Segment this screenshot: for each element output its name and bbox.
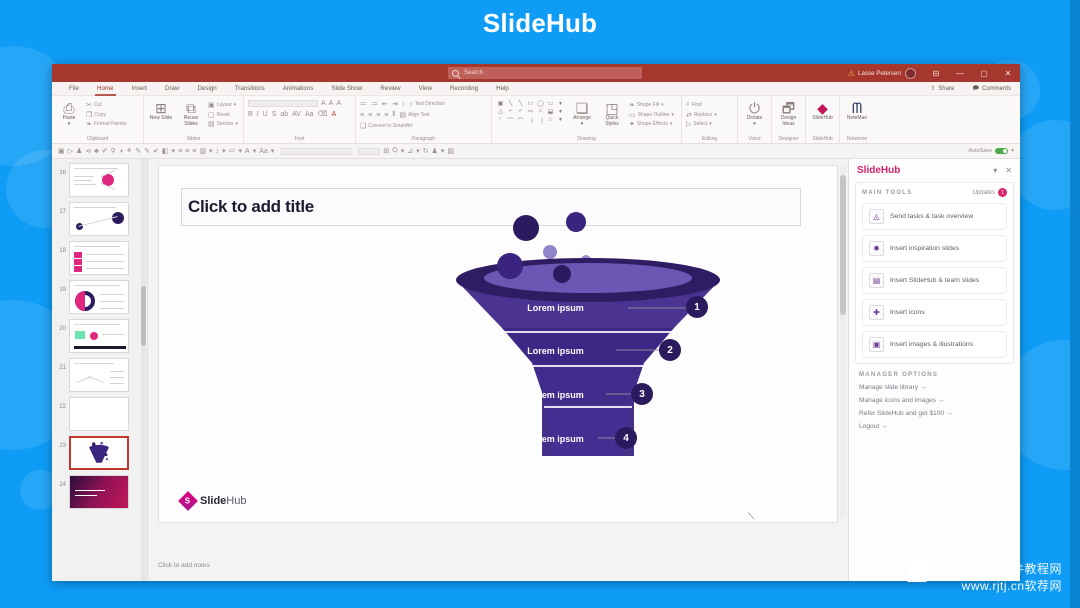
funnel-number-badge-2[interactable]: 2 [659,339,681,361]
shape-icon[interactable]: 〈 [526,116,535,125]
right-edge-band [1070,0,1080,608]
shape-icon[interactable]: ⌂ [536,108,545,115]
quick-styles-button[interactable]: ◳ Quick Styles [599,100,625,128]
shape-fill-label: Shape Fill [637,102,659,108]
qbar-icon[interactable]: ≡ [192,148,196,155]
paintbrush-icon: ❧ [86,120,92,128]
find-icon: ⌕ [686,101,690,109]
avatar[interactable] [905,68,916,79]
comments-button[interactable]: 🗩 Comments [963,84,1020,94]
funnel-number-badge-3[interactable]: 3 [631,383,653,405]
bullets-icon[interactable]: ≔ [360,100,367,108]
chevron-down-icon[interactable]: ▾ [416,147,420,155]
font-color-icon[interactable]: A [331,111,336,118]
shape-icon[interactable]: ⬓ [546,108,555,115]
thumbnail-number: 19 [54,280,66,293]
qbar-icon[interactable]: ≡ [178,148,182,155]
search-icon [452,70,459,77]
copy-label: Copy [94,112,106,118]
shape-fill-button[interactable]: ❧ Shape Fill ▾ [629,101,674,109]
thumbnail-21[interactable] [69,358,129,392]
tool-label: Send tasks & task overview [890,213,973,220]
bubble-dark [513,215,539,241]
shrink-font-icon[interactable]: A [329,100,334,107]
chevron-down-icon[interactable]: ▾ [253,147,257,155]
qbar-icon[interactable]: ⊲ [85,147,91,155]
bubble-light [543,245,557,259]
thumbnail-item[interactable]: 18 [54,241,145,275]
logo-text-bold: Slide [200,495,226,507]
qbar-icon[interactable]: ↻ [423,147,429,155]
align-text-icon: ▤ [399,111,406,119]
shapes-gallery[interactable]: ▣ ╲ ╲ ▭ ◯ ▭ ▾ △ ⌐ ⌐ ⇨ ⌂ ⬓ ▾ ◜ ⌒ ⌒ [496,100,565,125]
tab-view[interactable]: View [410,82,441,96]
shape-effects-icon: ✦ [629,120,635,128]
section-icon: ▤ [208,120,215,128]
panel-header: SlideHub ▾ ✕ [855,163,1014,182]
quick-format-bar: ▣ ▷ ♟ ⊲ ♣ ✐ ⚲ ◑ ⚘ ✎ ✎ ✔ ◧ ▾ ≡ ≡ ≡ ▥ ▾ ↕ … [52,144,1020,159]
thumbnail-18[interactable] [69,241,129,275]
strikethrough-button[interactable]: ab [280,111,288,118]
text-direction-icon: ↕ [409,101,413,108]
funnel-segment-label-3: Lorem ipsum [488,390,623,400]
tool-insert-team-slides[interactable]: ▤ Insert SlideHub & team slides [862,267,1007,294]
insert-icons-icon: ✚ [869,305,884,320]
shape-effects-button[interactable]: ✦ Shape Effects ▾ [629,120,674,128]
thumbnail-16[interactable] [69,163,129,197]
reuse-slides-label: Reuse Slides [184,115,198,127]
qbar-icon[interactable]: ✔ [153,147,159,155]
thumbnail-20[interactable] [69,319,129,353]
dictate-chevron-down-icon[interactable]: ▾ [742,122,767,128]
qbar-icon[interactable]: ≡ [185,148,189,155]
mouse-cursor-icon: ⟍ [748,511,754,522]
send-tasks-icon: ◬ [869,209,884,224]
logo-text: SlideHub [200,495,246,507]
slidehub-button[interactable]: ◆ SlideHub [810,100,835,122]
paste-button[interactable]: ⎙ Paste ▾ [56,100,82,128]
qbar-icon[interactable]: ⚘ [126,147,132,155]
slidehub-label: SlideHub [812,115,832,121]
shape-icon[interactable]: 〔 [536,116,545,125]
share-button[interactable]: ⇧ Share [921,85,963,92]
shadow-button[interactable]: S [272,111,277,118]
group-label-clipboard: Clipboard [52,136,143,142]
ribbon-tabs: File Home Insert Draw Design Transitions… [52,82,1020,96]
minimize-icon[interactable]: — [948,69,972,78]
thumbnail-number: 23 [54,436,66,449]
shape-fill-icon: ❧ [629,101,635,109]
main-tools-title: MAIN TOOLS [862,190,913,196]
microphone-icon: ⏻ [742,100,767,116]
thumbnail-number: 20 [54,319,66,332]
find-label: Find [692,102,702,108]
qbar-icon[interactable]: ⛭ [392,147,398,155]
smartart-icon: ❏ [360,122,366,130]
thumbnail-item[interactable]: 16 [54,163,145,197]
qbar-icon[interactable]: ♣ [94,148,99,155]
paste-chevron-down-icon[interactable]: ▾ [56,122,82,128]
chevron-down-icon[interactable]: ▾ [222,147,226,155]
shape-icon[interactable]: ⌒ [516,116,525,125]
bubble-dark [566,212,586,232]
shape-icon[interactable]: △ [496,108,505,115]
logo-text-light: Hub [226,495,246,507]
thumbnail-item[interactable]: 20 [54,319,145,353]
bubble-dark [553,265,571,283]
ribbon-group-drawing: ▣ ╲ ╲ ▭ ◯ ▭ ▾ △ ⌐ ⌐ ⇨ ⌂ ⬓ ▾ ◜ ⌒ ⌒ [492,96,682,143]
bold-button[interactable]: B [248,111,253,118]
thumbnail-item[interactable]: 24 [54,475,145,509]
panel-title: SlideHub [857,165,900,176]
numbering-icon[interactable]: ≕ [371,100,378,108]
shape-icon[interactable]: ⌐ [516,108,525,115]
thumbnail-item[interactable]: 22 [54,397,145,431]
text-direction-button[interactable]: ↕ Text Direction [409,101,445,108]
section-label: Section [217,121,234,127]
noteman-icon: ᗰ [844,100,870,116]
qbar-icon[interactable]: ⊿ [407,147,413,155]
change-case-icon[interactable]: Aa [305,111,314,118]
shape-icon[interactable]: ▣ [496,100,505,107]
group-label-font: Font [244,136,355,142]
search-placeholder: Search [464,70,483,76]
layout-icon: ▣ [208,101,215,109]
search-input[interactable]: Search [448,67,642,79]
ribbon-group-slidehub: ◆ SlideHub SlideHub [806,96,840,143]
canvas-scrollbar[interactable] [840,165,846,517]
slide-surface[interactable]: Click to add title [158,165,838,523]
dictate-button[interactable]: ⏻ Dictate ▾ [742,100,767,128]
group-label-slidehub: SlideHub [806,136,839,142]
section-button[interactable]: ▤ Section ▾ [208,120,238,128]
warning-icon: ⚠ [848,69,855,78]
clear-formatting-icon[interactable]: A [336,100,341,107]
reuse-slides-button[interactable]: ⧉ Reuse Slides [178,100,204,128]
arrange-button[interactable]: ❏ Arrange ▾ [569,100,595,128]
thumbnail-17[interactable] [69,202,129,236]
arrange-icon: ❏ [569,100,595,116]
shape-outline-chevron-down-icon[interactable]: ▾ [671,112,674,118]
noteman-label: NoteMan [847,115,867,121]
new-slide-icon: ⊞ [148,100,174,116]
thumbnail-number: 17 [54,202,66,215]
reset-button[interactable]: ▢ Reset [208,111,238,119]
replace-button[interactable]: ⇄ Replace ▾ [686,111,717,119]
reset-label: Reset [217,112,230,118]
font-family-select[interactable] [248,100,318,107]
noteman-button[interactable]: ᗰ NoteMan [844,100,870,122]
shape-icon[interactable]: ⌐ [506,108,515,115]
shapes-chevron-down-icon[interactable]: ▾ [556,100,565,107]
qbar-icon[interactable]: Aa [259,148,268,155]
manager-options-title: MANAGER OPTIONS [859,372,1014,378]
watermark-logo [906,560,928,582]
ribbon-group-slides: ⊞ New Slide ⧉ Reuse Slides ▣ Layout ▾ ▢ … [144,96,244,143]
shape-icon[interactable]: ⇨ [526,108,535,115]
work-area: 16 17 [52,159,1020,581]
qbar-icon[interactable]: ✐ [102,147,108,155]
select-icon: ▷ [686,120,691,128]
shape-icon[interactable]: ☆ [546,116,555,125]
cut-button[interactable]: ✂ Cut [86,101,127,109]
comments-label: Comments [982,86,1011,92]
decrease-indent-icon[interactable]: ⇤ [382,100,388,108]
shape-fill-chevron-down-icon[interactable]: ▾ [661,102,664,108]
qbar-size-select[interactable] [358,148,380,155]
share-label: Share [938,86,954,92]
slide-thumbnail-panel[interactable]: 16 17 [52,159,148,581]
logo-letter: S [185,497,190,506]
tool-insert-icons[interactable]: ✚ Insert icons [862,299,1007,326]
ribbon-group-paragraph: ≔ ≕ ⇤ ⇥ ↕ ↕ Text Direction ≡ ≡ ≡ ≡ ⦀ [356,96,492,143]
shape-icon[interactable]: ▭ [546,100,555,107]
slide-title-text: Click to add title [188,197,314,217]
layout-chevron-down-icon[interactable]: ▾ [234,102,237,108]
shape-icon[interactable]: ◯ [536,100,545,107]
underline-button[interactable]: U [263,111,268,118]
bubble-dark [497,253,523,279]
ribbon-group-font: A A A B I U S ab AV Aa ⌫ A Font [244,96,356,143]
qbar-icon[interactable]: ▥ [199,147,206,155]
watermark: 软件教程网 www.rjtj.cn软荐网 [962,560,1062,594]
ribbon-group-clipboard: ⎙ Paste ▾ ✂ Cut ❐ Copy ❧ Format Pai [52,96,144,143]
reset-icon: ▢ [208,111,215,119]
qbar-icon[interactable]: ▨ [447,147,454,155]
group-label-slides: Slides [144,136,243,142]
tab-review[interactable]: Review [371,82,409,96]
convert-smartart-label: Convert to SmartArt [368,123,412,129]
funnel-segment-label-4: Lorem ipsum [488,434,623,444]
tool-insert-inspiration-slides[interactable]: ✹ Insert inspiration slides [862,235,1007,262]
manage-icons-images-link[interactable]: Manage icons and images → [859,397,1014,404]
chevron-down-icon[interactable]: ▾ [209,147,213,155]
funnel-segment-label-1: Lorem ipsum [488,303,623,313]
quick-styles-label: Quick Styles [605,115,619,127]
tab-file[interactable]: File [60,82,88,96]
scrollbar-knob[interactable] [141,286,146,346]
qbar-icon[interactable]: ▷ [68,147,73,155]
character-spacing-icon[interactable]: AV [292,111,301,118]
columns-icon[interactable]: ⦀ [392,111,395,119]
ribbon-group-designer: 🗗 Design Ideas Designer [772,96,806,143]
justify-icon[interactable]: ≡ [384,112,388,119]
tool-label: Insert icons [890,309,925,316]
thumbnail-item[interactable]: 17 [54,202,145,236]
tab-design[interactable]: Design [188,82,225,96]
shape-outline-icon: ▭ [629,111,636,119]
text-highlight-icon[interactable]: ⌫ [318,110,328,118]
qbar-icon[interactable]: ✎ [144,147,150,155]
thumbnail-number: 16 [54,163,66,176]
select-label: Select [693,121,707,127]
chevron-down-icon[interactable]: ▾ [441,147,445,155]
qbar-icon[interactable]: ◧ [162,147,169,155]
slidehub-panel: SlideHub ▾ ✕ MAIN TOOLS Updates 1 ◬ Send… [848,159,1020,581]
autosave-label: AutoSave [968,148,992,154]
qbar-icon[interactable]: ♟ [432,147,438,155]
refer-slidehub-link[interactable]: Refer SlideHub and get $100 → [859,410,1014,417]
scissors-icon: ✂ [86,101,92,109]
notes-placeholder[interactable]: Click to add notes [158,557,838,579]
updates-badge: 1 [998,188,1007,197]
align-right-icon[interactable]: ≡ [376,112,380,119]
thumbnail-number: 21 [54,358,66,371]
title-bar: SlideHub Follow-up presentation Search ⚠… [52,64,1020,82]
align-left-icon[interactable]: ≡ [360,112,364,119]
tab-animations[interactable]: Animations [274,82,323,96]
thumbnail-item[interactable]: 19 [54,280,145,314]
ribbon-group-notetone: ᗰ NoteMan Notetone [840,96,874,143]
tab-transitions[interactable]: Transitions [226,82,274,96]
shape-icon[interactable]: ╲ [516,100,525,107]
page-title: SlideHub [0,8,1080,39]
design-ideas-icon: 🗗 [776,100,801,116]
qbar-icon[interactable]: ♟ [76,147,82,155]
qbar-font-select[interactable] [281,148,351,155]
tool-send-tasks[interactable]: ◬ Send tasks & task overview [862,203,1007,230]
qbar-icon[interactable]: ⚲ [111,147,116,155]
close-icon[interactable]: ✕ [996,69,1020,78]
thumbnail-item[interactable]: 23 [54,436,145,470]
find-button[interactable]: ⌕ Find [686,101,717,109]
panel-collapse-icon[interactable]: ▾ [993,166,997,175]
tool-label: Insert SlideHub & team slides [890,277,979,284]
replace-chevron-down-icon[interactable]: ▾ [714,112,717,118]
replace-icon: ⇄ [686,111,692,119]
shape-outline-button[interactable]: ▭ Shape Outline ▾ [629,111,674,119]
select-button[interactable]: ▷ Select ▾ [686,120,717,128]
thumbnail-number: 18 [54,241,66,254]
main-tools-header: MAIN TOOLS Updates 1 [862,188,1007,197]
replace-label: Replace [694,112,712,118]
cut-label: Cut [94,102,102,108]
titlebar-right-controls: ⚠ Lasse Petersen ⊟ — ▢ ✕ [848,64,1020,82]
thumbnail-number: 22 [54,397,66,410]
group-label-notetone: Notetone [840,136,874,142]
thumbnail-item[interactable]: 21 [54,358,145,392]
chevron-down-icon[interactable]: ▾ [1011,148,1014,154]
manage-slide-library-link[interactable]: Manage slide library → [859,384,1014,391]
align-text-button[interactable]: ▤ Align Text [399,111,429,119]
align-center-icon[interactable]: ≡ [368,112,372,119]
shape-icon[interactable]: ◜ [496,116,505,125]
powerpoint-window: SlideHub Follow-up presentation Search ⚠… [52,64,1020,581]
shape-icon[interactable]: ╲ [506,100,515,107]
funnel-segment-label-2: Lorem ipsum [488,346,623,356]
funnel-diagram[interactable]: Lorem ipsum Lorem ipsum Lorem ipsum Lore… [438,208,738,478]
manager-options: MANAGER OPTIONS Manage slide library → M… [855,372,1014,436]
thumbnail-22[interactable] [69,397,129,431]
thumbnail-scrollbar[interactable] [141,159,146,581]
thumbnail-funnel-icon [71,438,127,468]
group-label-voice: Voice [738,136,771,142]
autosave-toggle[interactable]: AutoSave ▾ [968,148,1014,154]
user-name[interactable]: Lasse Petersen [858,70,901,77]
format-painter-label: Format Painter [94,121,127,127]
scrollbar-knob[interactable] [840,175,846,315]
increase-indent-icon[interactable]: ⇥ [392,100,398,108]
ribbon-display-options-icon[interactable]: ⊟ [924,69,948,78]
tab-help[interactable]: Help [487,82,518,96]
updates-indicator[interactable]: Updates 1 [973,188,1007,197]
new-slide-button[interactable]: ⊞ New Slide [148,100,174,122]
chevron-down-icon[interactable]: ▾ [271,147,275,155]
layout-label: Layout [217,102,232,108]
shapes-chevron-down-icon[interactable]: ▾ [556,108,565,115]
slide-logo: S SlideHub [181,494,246,508]
convert-smartart-button[interactable]: ❏ Convert to SmartArt [360,122,412,130]
qbar-icon[interactable]: ≔ [229,147,236,155]
thumbnail-23-selected[interactable] [69,436,129,470]
tab-recording[interactable]: Recording [441,82,487,96]
qbar-icon[interactable]: ⊞ [383,147,389,155]
new-slide-label: New Slide [150,115,173,121]
tool-label: Insert inspiration slides [890,245,959,252]
toggle-switch[interactable] [995,148,1008,154]
qbar-icon[interactable]: ✎ [135,147,141,155]
design-ideas-label: Design Ideas [781,115,797,127]
design-ideas-button[interactable]: 🗗 Design Ideas [776,100,801,128]
tab-home[interactable]: Home [88,82,123,96]
share-icon: ⇧ [930,85,935,92]
shape-icon[interactable]: ⌒ [506,116,515,125]
qbar-icon[interactable]: A [245,148,250,155]
tab-draw[interactable]: Draw [156,82,188,96]
group-label-designer: Designer [772,136,805,142]
thumbnail-24[interactable] [69,475,129,509]
tool-label: Insert images & illustrations [890,341,973,348]
watermark-line-2: www.rjtj.cn软荐网 [962,577,1062,594]
tool-insert-images[interactable]: ▣ Insert images & illustrations [862,331,1007,358]
qbar-icon[interactable]: ▣ [58,147,65,155]
ribbon-group-editing: ⌕ Find ⇄ Replace ▾ ▷ Select ▾ Editing [682,96,738,143]
section-chevron-down-icon[interactable]: ▾ [235,121,238,127]
tab-slide-show[interactable]: Slide Show [322,82,371,96]
text-direction-label: Text Direction [415,101,445,107]
shapes-chevron-down-icon[interactable]: ▾ [556,116,565,125]
slide-canvas-area: Click to add title [148,159,848,581]
italic-button[interactable]: I [257,111,259,118]
chevron-down-icon[interactable]: ▾ [401,147,405,155]
chevron-down-icon[interactable]: ▾ [172,147,176,155]
funnel-number-badge-4[interactable]: 4 [615,427,637,449]
chevron-down-icon[interactable]: ▾ [239,147,243,155]
funnel-number-badge-1[interactable]: 1 [686,296,708,318]
layout-button[interactable]: ▣ Layout ▾ [208,101,238,109]
panel-close-icon[interactable]: ✕ [1005,166,1012,175]
panel-controls: ▾ ✕ [993,166,1012,175]
tab-insert[interactable]: Insert [123,82,156,96]
format-painter-button[interactable]: ❧ Format Painter [86,120,127,128]
select-chevron-down-icon[interactable]: ▾ [709,121,712,127]
grow-font-icon[interactable]: A [321,100,326,107]
arrange-chevron-down-icon[interactable]: ▾ [569,122,595,128]
qbar-icon[interactable]: ◑ [119,148,123,155]
thumbnail-19[interactable] [69,280,129,314]
copy-icon: ❐ [86,111,92,119]
quick-styles-icon: ◳ [599,100,625,116]
clipboard-icon: ⎙ [56,100,82,116]
logout-link[interactable]: Logout → [859,423,1014,430]
shape-effects-chevron-down-icon[interactable]: ▾ [670,121,673,127]
shape-icon[interactable]: ▭ [526,100,535,107]
line-spacing-icon[interactable]: ↕ [402,101,406,108]
maximize-icon[interactable]: ▢ [972,69,996,78]
qbar-icon[interactable]: ↕ [215,148,219,155]
copy-button[interactable]: ❐ Copy [86,111,127,119]
ribbon-group-voice: ⏻ Dictate ▾ Voice [738,96,772,143]
